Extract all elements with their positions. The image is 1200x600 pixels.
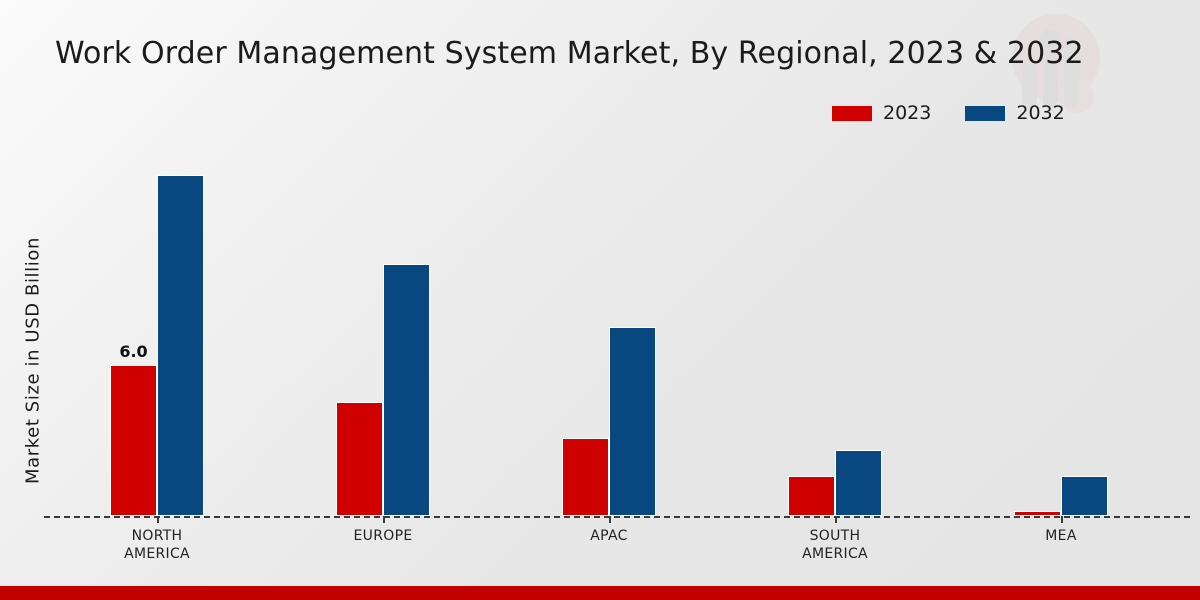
x-axis-baseline <box>44 516 1190 518</box>
bar-value-label-2023-north-america: 6.0 <box>110 342 157 361</box>
x-axis-tick-north-america <box>157 516 159 523</box>
legend-item-2032[interactable]: 2032 <box>965 104 1064 123</box>
legend-swatch-2032 <box>965 106 1005 121</box>
x-axis-label-line: SOUTH <box>755 527 915 545</box>
bar-2023-europe[interactable] <box>336 402 383 516</box>
y-axis-label: Market Size in USD Billion <box>23 176 44 546</box>
bar-2032-mea[interactable] <box>1061 476 1108 516</box>
x-axis-tick-apac <box>609 516 611 523</box>
legend-swatch-2023 <box>832 106 872 121</box>
x-axis-tick-mea <box>1061 516 1063 523</box>
legend-label-2032: 2032 <box>1016 104 1064 123</box>
footer-accent-bar <box>0 586 1200 600</box>
bar-2023-north-america[interactable] <box>110 365 157 516</box>
x-axis-tick-europe <box>383 516 385 523</box>
x-axis-tick-south-america <box>835 516 837 523</box>
legend-item-2023[interactable]: 2023 <box>832 104 931 123</box>
bar-2032-apac[interactable] <box>609 327 656 516</box>
x-axis-label-line: NORTH <box>77 527 237 545</box>
x-axis-label-north-america: NORTHAMERICA <box>77 527 237 563</box>
page-title: Work Order Management System Market, By … <box>55 36 1084 71</box>
x-axis-label-south-america: SOUTHAMERICA <box>755 527 915 563</box>
bar-2023-apac[interactable] <box>562 438 609 516</box>
x-axis-label-europe: EUROPE <box>303 527 463 545</box>
x-axis-label-apac: APAC <box>529 527 689 545</box>
x-axis-label-line: EUROPE <box>303 527 463 545</box>
chart-legend: 2023 2032 <box>832 104 1065 123</box>
x-axis-label-line: AMERICA <box>755 545 915 563</box>
bar-2023-mea[interactable] <box>1014 511 1061 516</box>
bar-2023-south-america[interactable] <box>788 476 835 516</box>
legend-label-2023: 2023 <box>883 104 931 123</box>
x-axis-label-line: APAC <box>529 527 689 545</box>
chart-canvas: Work Order Management System Market, By … <box>0 0 1200 600</box>
bar-2032-north-america[interactable] <box>157 175 204 516</box>
bar-2032-europe[interactable] <box>383 264 430 516</box>
bar-2032-south-america[interactable] <box>835 450 882 516</box>
x-axis-label-mea: MEA <box>981 527 1141 545</box>
x-axis-label-line: MEA <box>981 527 1141 545</box>
x-axis-label-line: AMERICA <box>77 545 237 563</box>
